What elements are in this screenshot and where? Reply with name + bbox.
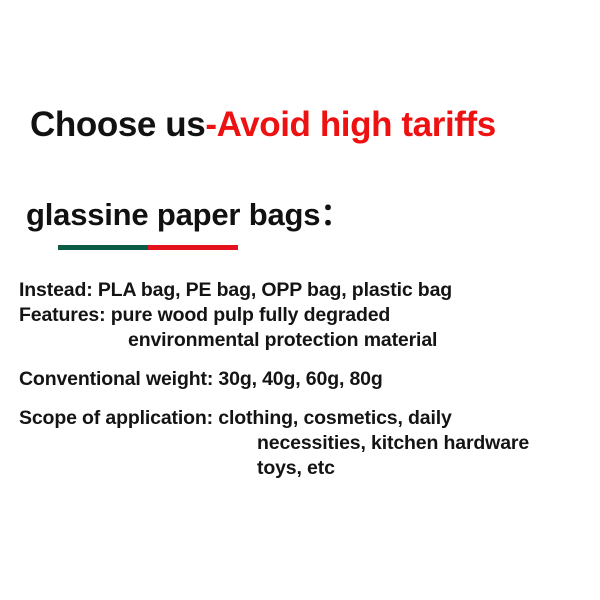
spec-weight-line-1: Conventional weight: 30g, 40g, 60g, 80g xyxy=(19,368,383,390)
spec-scope-line-3: toys, etc xyxy=(19,456,592,481)
spec-row-instead: Instead: PLA bag, PE bag, OPP bag, plast… xyxy=(19,278,592,303)
spec-features-line-1: Features: pure wood pulp fully degraded xyxy=(19,304,390,326)
spec-row-weight: Conventional weight: 30g, 40g, 60g, 80g xyxy=(19,367,592,392)
spec-scope-line-2: necessities, kitchen hardware xyxy=(19,431,592,456)
poster-canvas: Choose us-Avoid high tariffs glassine pa… xyxy=(0,0,600,600)
divider-green-segment xyxy=(58,245,148,250)
spec-list: Instead: PLA bag, PE bag, OPP bag, plast… xyxy=(19,278,592,481)
spec-features-line-2: environmental protection material xyxy=(19,328,592,353)
spec-scope-line-1: Scope of application: clothing, cosmetic… xyxy=(19,407,452,429)
page-title: Choose us-Avoid high tariffs xyxy=(30,103,496,147)
two-tone-divider xyxy=(58,245,238,250)
title-black-text: Choose us xyxy=(30,105,205,144)
product-subtitle: glassine paper bags： xyxy=(26,195,351,235)
spec-instead-line-1: Instead: PLA bag, PE bag, OPP bag, plast… xyxy=(19,279,452,301)
title-red-text: -Avoid high tariffs xyxy=(205,105,496,144)
spec-row-features: Features: pure wood pulp fully degraded … xyxy=(19,303,592,353)
spec-row-scope: Scope of application: clothing, cosmetic… xyxy=(19,406,592,481)
divider-red-segment xyxy=(148,245,238,250)
